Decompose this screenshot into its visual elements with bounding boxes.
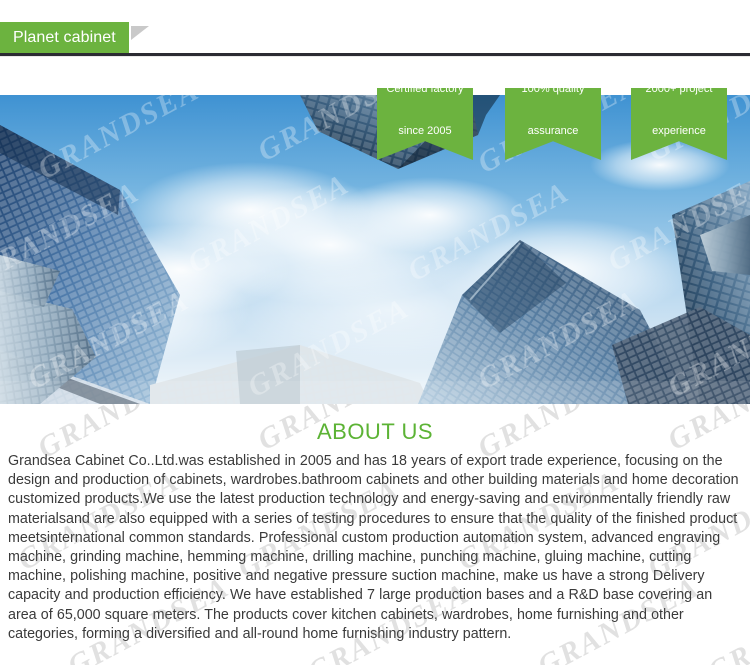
- badge-ribbons: Certified factory since 2005 100% qualit…: [0, 0, 750, 200]
- badge-line-2: experience: [646, 124, 713, 152]
- page-root: Planet cabinet: [0, 0, 750, 665]
- badge-line-1: Certified factory: [386, 82, 463, 110]
- badge-line-1: 2000+ project: [646, 82, 713, 110]
- badge-ribbon-quality-assurance: 100% quality assurance: [505, 88, 601, 160]
- badge-line-2: assurance: [522, 124, 585, 152]
- about-body-text: Grandsea Cabinet Co..Ltd.was established…: [0, 446, 750, 644]
- badge-ribbon-project-experience: 2000+ project experience: [631, 88, 727, 160]
- about-title: ABOUT US: [0, 404, 750, 446]
- about-section: ABOUT US Grandsea Cabinet Co..Ltd.was es…: [0, 404, 750, 665]
- badge-line-2: since 2005: [386, 124, 463, 152]
- badge-line-1: 100% quality: [522, 82, 585, 110]
- badge-ribbon-certified-factory: Certified factory since 2005: [377, 88, 473, 160]
